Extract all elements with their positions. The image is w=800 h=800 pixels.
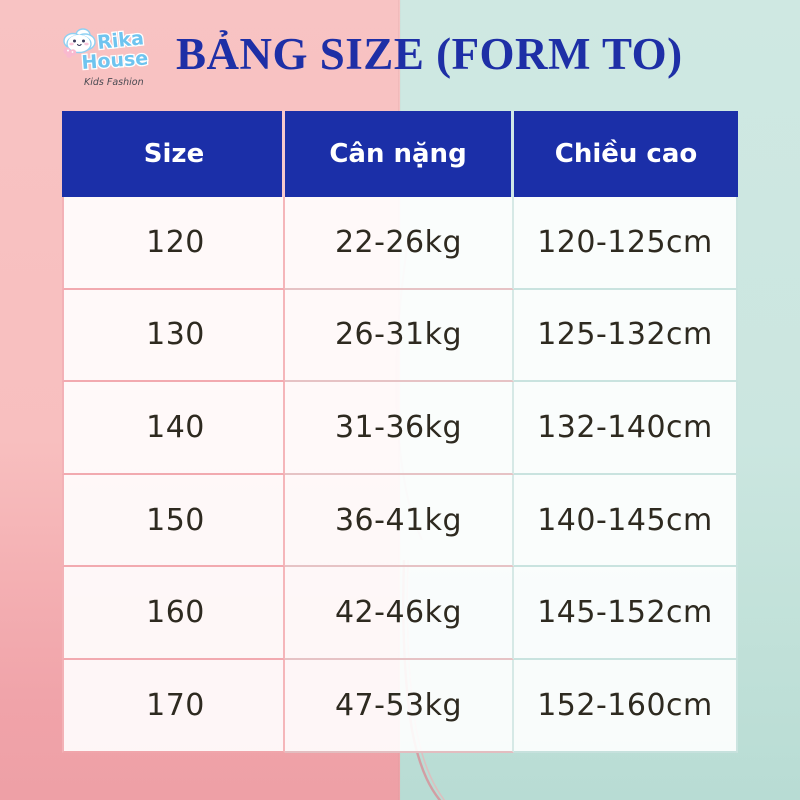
cell-size-value: 130 — [146, 317, 205, 352]
brand-logo-graphic: Rika House Kids Fashion — [58, 24, 170, 90]
cell-height-value: 145-152cm — [537, 595, 713, 630]
column-header-weight: Cân nặng — [285, 111, 514, 197]
brand-tagline: Kids Fashion — [84, 77, 144, 88]
cell-size: 120 — [62, 197, 285, 290]
cell-height-value: 152-160cm — [537, 688, 713, 723]
cell-height-value: 140-145cm — [537, 503, 713, 538]
column-header-weight-label: Cân nặng — [329, 139, 466, 169]
table-row: 120 22-26kg 120-125cm — [62, 197, 738, 290]
table-row: 130 26-31kg 125-132cm — [62, 290, 738, 383]
column-header-height: Chiều cao — [514, 111, 738, 197]
size-table: Size Cân nặng Chiều cao 120 22-26kg 120-… — [62, 111, 738, 753]
cell-height: 140-145cm — [514, 475, 738, 568]
cell-size-value: 150 — [146, 503, 205, 538]
column-header-size: Size — [62, 111, 285, 197]
table-row: 140 31-36kg 132-140cm — [62, 382, 738, 475]
cell-height: 125-132cm — [514, 290, 738, 383]
table-row: 150 36-41kg 140-145cm — [62, 475, 738, 568]
table-row: 170 47-53kg 152-160cm — [62, 660, 738, 753]
cell-size-value: 140 — [146, 410, 205, 445]
cell-weight: 22-26kg — [285, 197, 514, 290]
cell-weight: 47-53kg — [285, 660, 514, 753]
cell-height-value: 120-125cm — [537, 225, 713, 260]
cell-height-value: 132-140cm — [537, 410, 713, 445]
cell-weight-value: 31-36kg — [335, 410, 462, 445]
cell-size-value: 120 — [146, 225, 205, 260]
size-chart-page: Rika House Kids Fashion BẢNG SIZE (FORM … — [0, 0, 800, 800]
column-header-size-label: Size — [144, 139, 204, 169]
cell-height: 120-125cm — [514, 197, 738, 290]
cell-weight: 26-31kg — [285, 290, 514, 383]
cell-height: 132-140cm — [514, 382, 738, 475]
cell-size: 140 — [62, 382, 285, 475]
cell-size: 130 — [62, 290, 285, 383]
cell-size: 160 — [62, 567, 285, 660]
cell-weight: 42-46kg — [285, 567, 514, 660]
brand-name-line2: House — [81, 47, 149, 74]
brand-logo: Rika House Kids Fashion — [58, 24, 170, 90]
column-header-height-label: Chiều cao — [555, 139, 698, 169]
cell-height-value: 125-132cm — [537, 317, 713, 352]
cell-weight-value: 26-31kg — [335, 317, 462, 352]
page-title: BẢNG SIZE (FORM TO) — [176, 22, 716, 86]
table-row: 160 42-46kg 145-152cm — [62, 567, 738, 660]
cell-height: 152-160cm — [514, 660, 738, 753]
cell-weight-value: 47-53kg — [335, 688, 462, 723]
table-header-row: Size Cân nặng Chiều cao — [62, 111, 738, 197]
cell-size-value: 170 — [146, 688, 205, 723]
cell-height: 145-152cm — [514, 567, 738, 660]
cell-weight: 31-36kg — [285, 382, 514, 475]
cell-weight-value: 42-46kg — [335, 595, 462, 630]
cell-size: 170 — [62, 660, 285, 753]
cell-weight-value: 22-26kg — [335, 225, 462, 260]
cell-weight-value: 36-41kg — [335, 503, 462, 538]
cell-weight: 36-41kg — [285, 475, 514, 568]
cell-size: 150 — [62, 475, 285, 568]
cell-size-value: 160 — [146, 595, 205, 630]
